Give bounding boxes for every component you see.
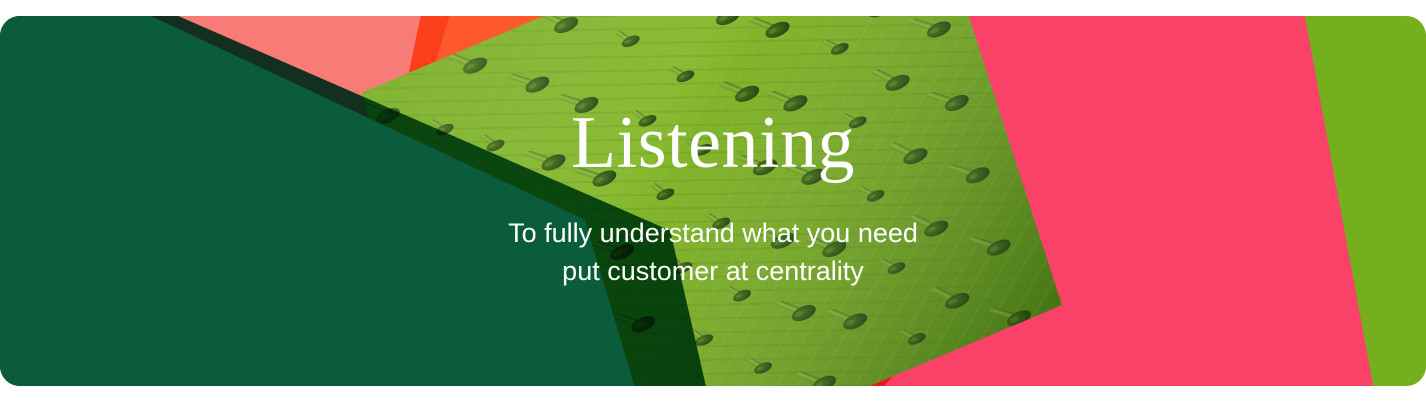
hero-banner-card: Listening To fully understand what you n…: [0, 16, 1426, 386]
banner-stage: Listening To fully understand what you n…: [0, 0, 1426, 402]
